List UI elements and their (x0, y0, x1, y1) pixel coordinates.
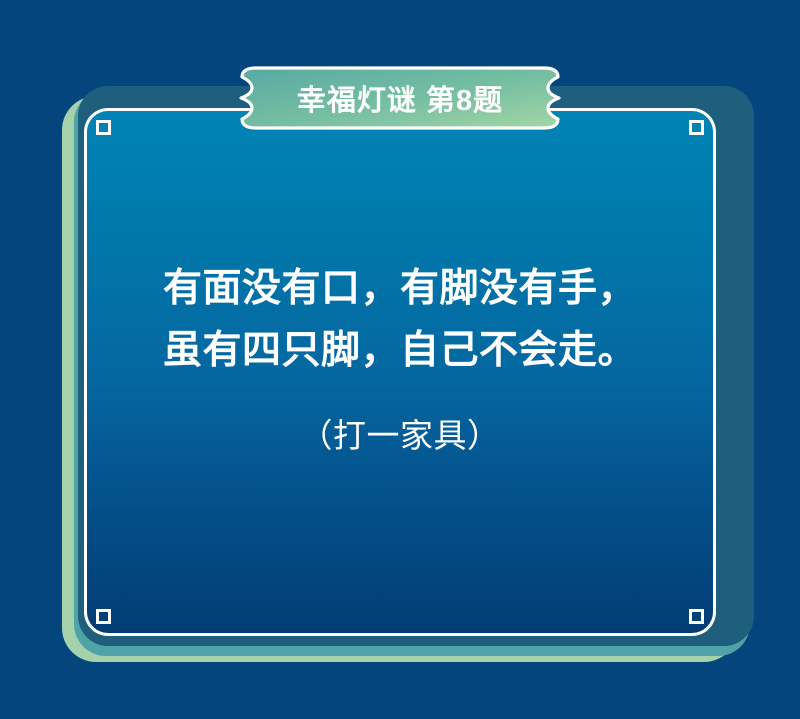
banner-title-text: 幸福灯谜 第8题 (218, 64, 582, 132)
corner-square-bottom-right-icon (689, 609, 704, 624)
corner-square-top-right-icon (689, 120, 704, 135)
corner-square-top-left-icon (96, 120, 111, 135)
riddle-line-2: 虽有四只脚，自己不会走。 (84, 320, 716, 382)
riddle-hint: （打一家具） (84, 409, 716, 457)
riddle-line-1: 有面没有口，有脚没有手， (84, 258, 716, 320)
riddle-card: 有面没有口，有脚没有手， 虽有四只脚，自己不会走。 （打一家具） (84, 108, 716, 636)
title-banner: 幸福灯谜 第8题 (218, 64, 582, 132)
riddle-content: 有面没有口，有脚没有手， 虽有四只脚，自己不会走。 （打一家具） (84, 258, 716, 457)
corner-square-bottom-left-icon (96, 609, 111, 624)
